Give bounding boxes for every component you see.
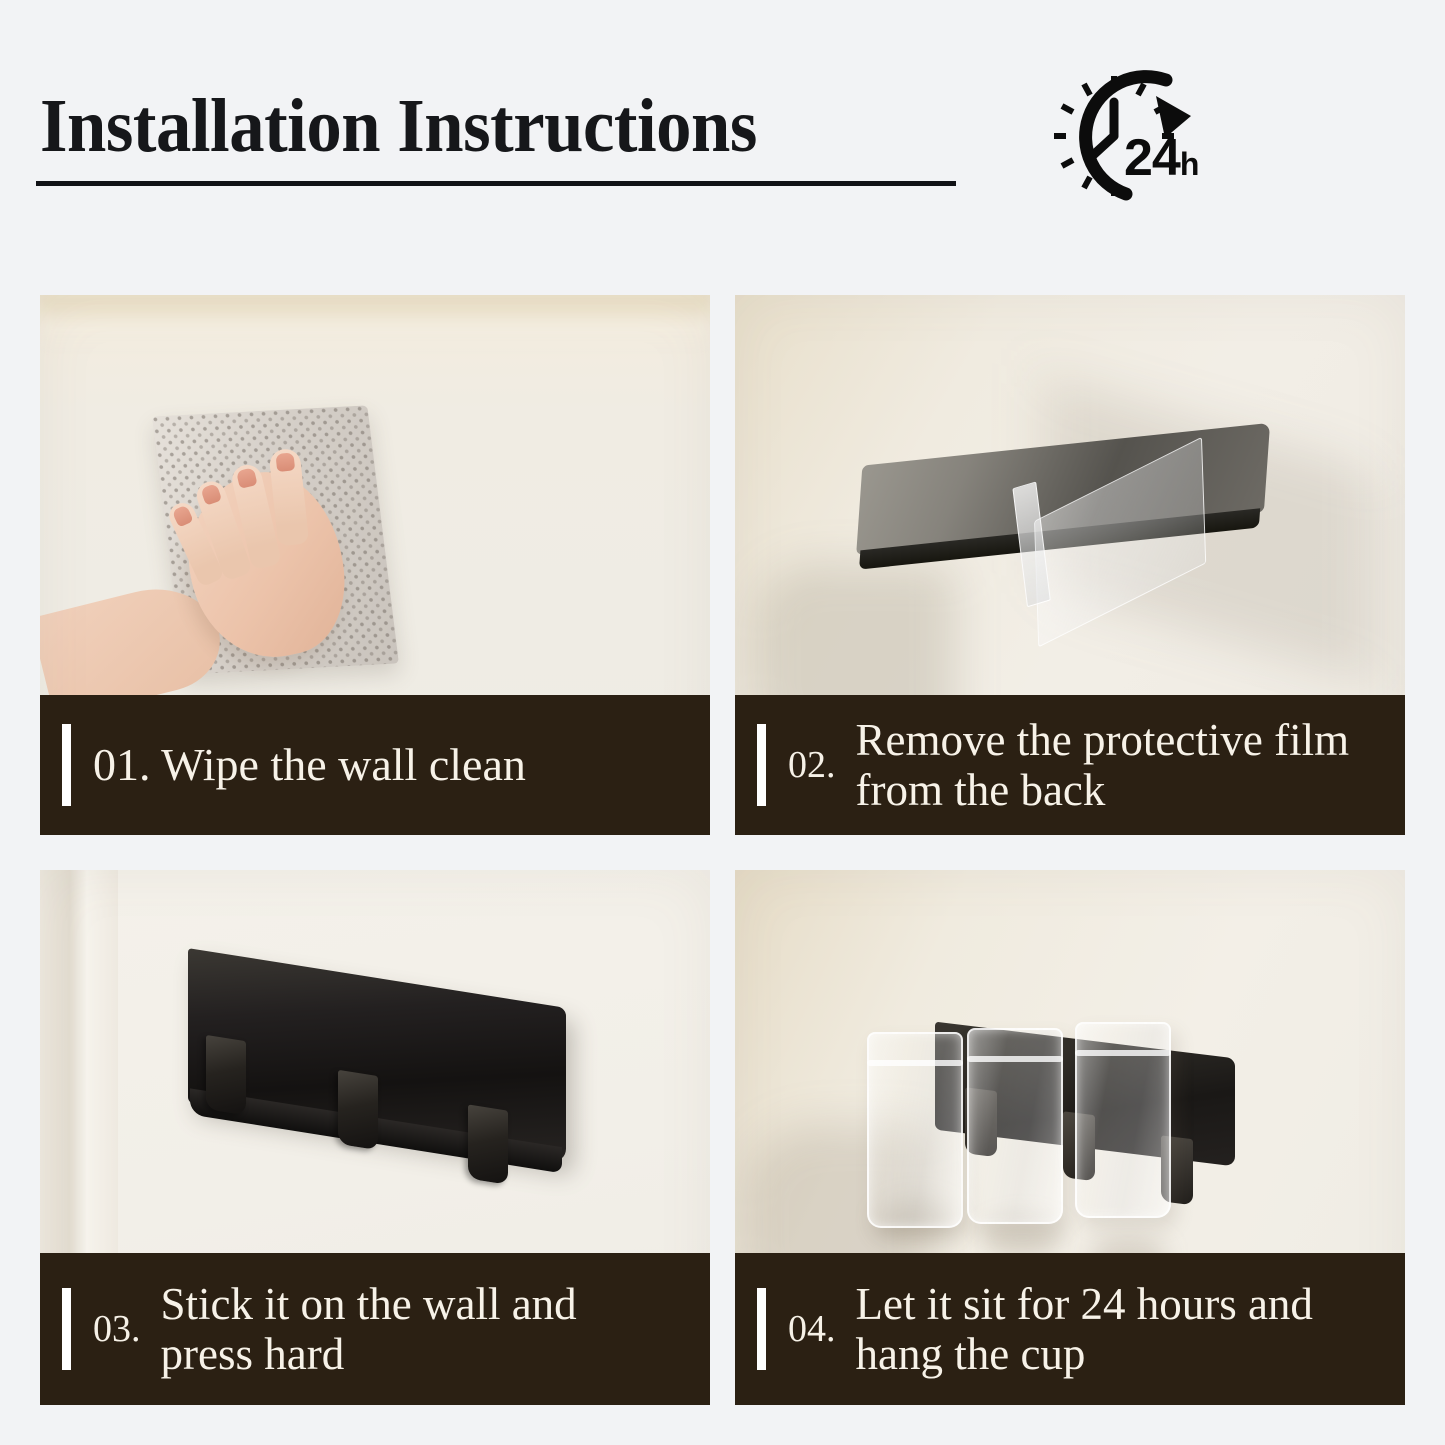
caption-accent-bar	[62, 724, 71, 806]
step-04-caption-text: Let it sit for 24 hours and hang the cup	[856, 1279, 1313, 1380]
glass-cup-1	[867, 1032, 963, 1228]
step-03-label-line-1: Stick it on the wall and	[161, 1279, 577, 1329]
fingernail	[172, 505, 194, 528]
step-01-caption: 01. Wipe the wall clean	[40, 695, 710, 835]
glass-cup-2	[967, 1028, 1063, 1224]
rack-hook-3	[468, 1104, 508, 1184]
page-header: Installation Instructions	[0, 0, 1445, 270]
step-04-number: 04.	[788, 1310, 836, 1348]
badge-hours-unit: h	[1180, 146, 1200, 183]
step-03-caption-text: Stick it on the wall and press hard	[161, 1279, 577, 1380]
step-panel-01: 01. Wipe the wall clean	[40, 295, 710, 835]
step-02-number: 02.	[788, 746, 836, 784]
step-02-caption: 02. Remove the protective film from the …	[735, 695, 1405, 835]
step-01-caption-text: 01. Wipe the wall clean	[93, 739, 526, 791]
step-02-label-line-2: from the back	[856, 765, 1350, 815]
steps-grid: 01. Wipe the wall clean 02. Remove the p…	[40, 295, 1405, 1405]
step-panel-03: 03. Stick it on the wall and press hard	[40, 870, 710, 1405]
step-04-caption: 04. Let it sit for 24 hours and hang the…	[735, 1253, 1405, 1405]
fingernail	[275, 452, 295, 472]
step-panel-02: 02. Remove the protective film from the …	[735, 295, 1405, 835]
fingernail	[200, 483, 222, 506]
step-panel-04: 04. Let it sit for 24 hours and hang the…	[735, 870, 1405, 1405]
step-02-caption-text: Remove the protective film from the back	[856, 715, 1350, 816]
step-04-label-line-2: hang the cup	[856, 1329, 1313, 1379]
step-03-caption: 03. Stick it on the wall and press hard	[40, 1253, 710, 1405]
page-title: Installation Instructions	[40, 88, 757, 164]
step-04-label-line-1: Let it sit for 24 hours and	[856, 1279, 1313, 1329]
step-01-label: Wipe the wall clean	[161, 739, 526, 790]
clock-24h-icon: 24 h	[1028, 52, 1228, 212]
badge-hours-value: 24	[1124, 128, 1180, 188]
cup-shadow-2	[983, 1218, 1061, 1258]
title-underline-rule	[36, 181, 956, 186]
step-02-label-line-1: Remove the protective film	[856, 715, 1350, 765]
glass-cup-3	[1075, 1022, 1171, 1218]
caption-accent-bar	[62, 1288, 71, 1370]
caption-accent-bar	[757, 1288, 766, 1370]
caption-accent-bar	[757, 724, 766, 806]
fingernail	[236, 467, 258, 489]
step-03-label-line-2: press hard	[161, 1329, 577, 1379]
step-01-number: 01.	[93, 739, 151, 790]
rack-hook-2	[338, 1070, 378, 1150]
rack-hook-1	[206, 1035, 246, 1115]
step-03-number: 03.	[93, 1310, 141, 1348]
